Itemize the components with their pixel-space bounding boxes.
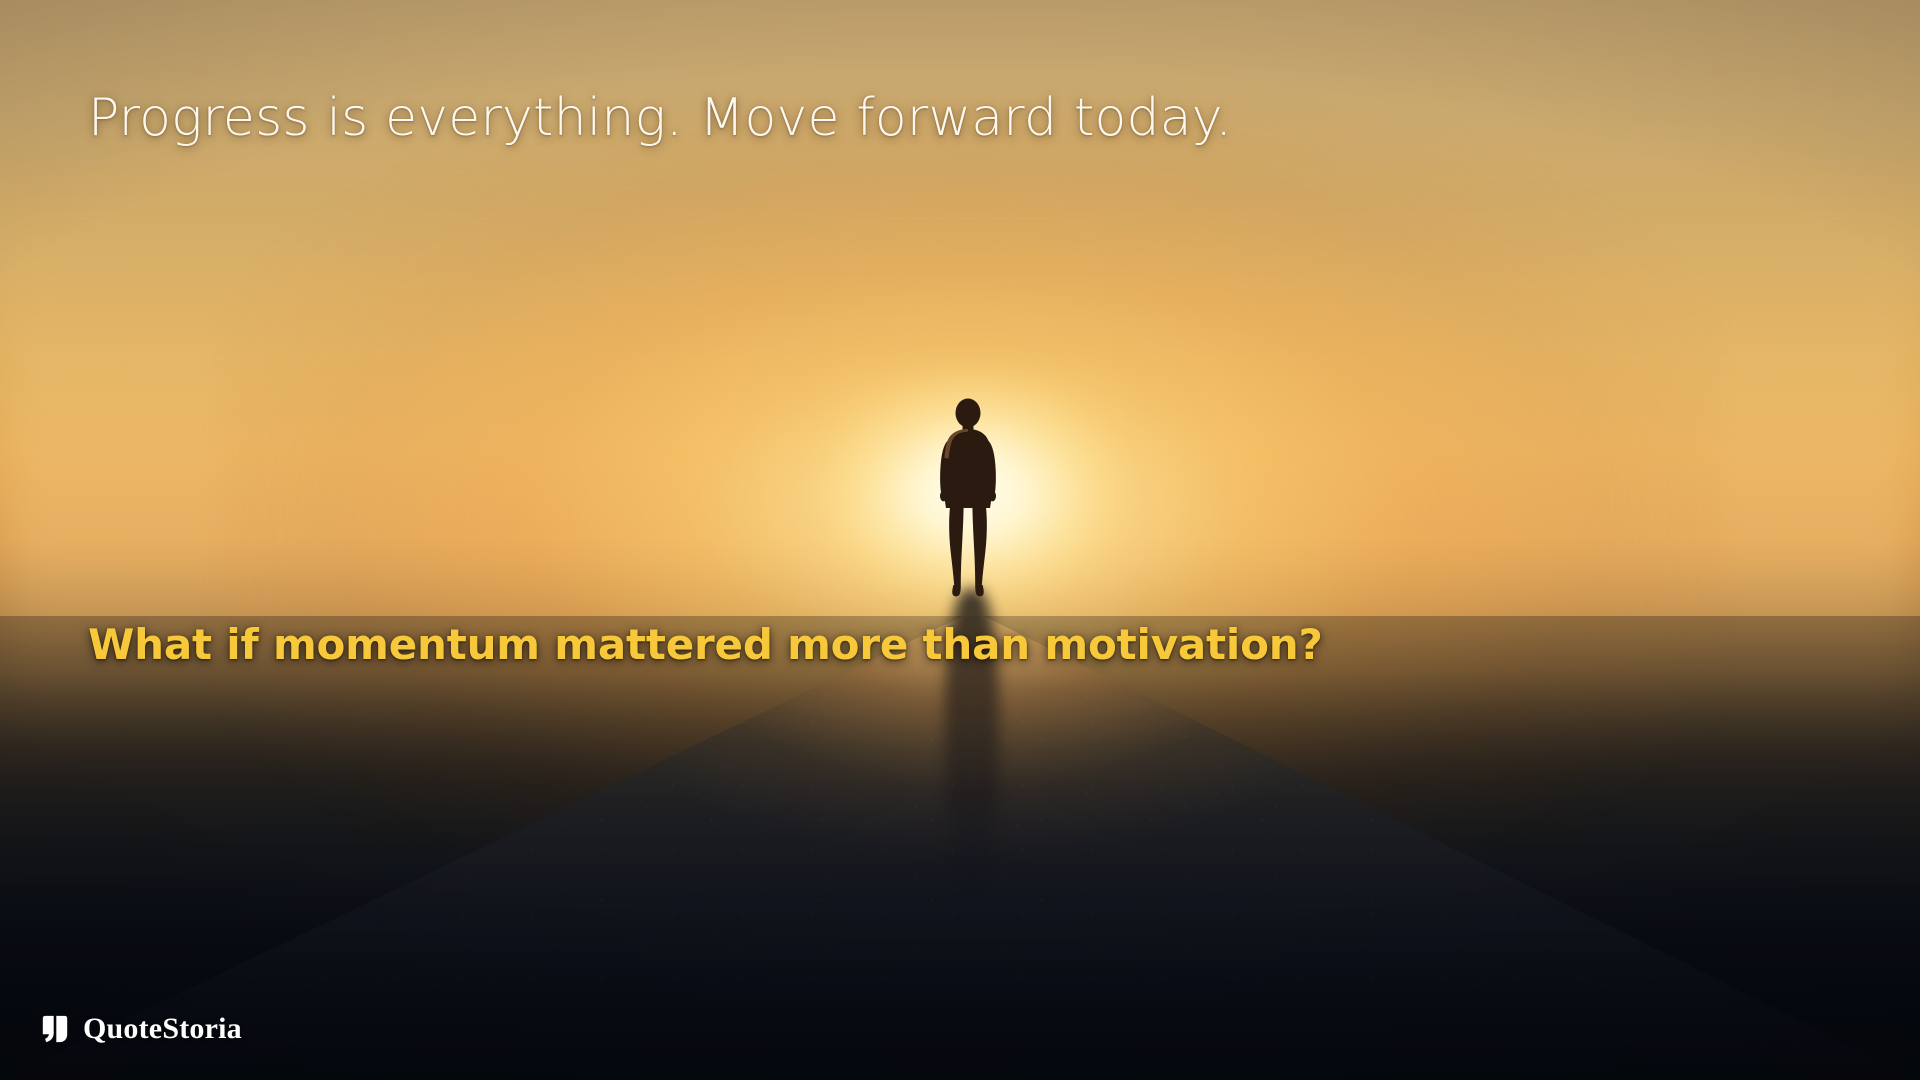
headline-text: Progress is everything. Move forward tod… bbox=[88, 88, 1232, 149]
quote-mark-icon bbox=[40, 1014, 70, 1044]
brand-logo: QuoteStoria bbox=[40, 1012, 242, 1046]
background-photo bbox=[0, 0, 1920, 1080]
brand-name: QuoteStoria bbox=[83, 1012, 242, 1046]
quote-card: Progress is everything. Move forward tod… bbox=[0, 0, 1920, 1080]
vignette-overlay bbox=[0, 0, 1920, 1080]
question-text: What if momentum mattered more than moti… bbox=[88, 620, 1323, 670]
